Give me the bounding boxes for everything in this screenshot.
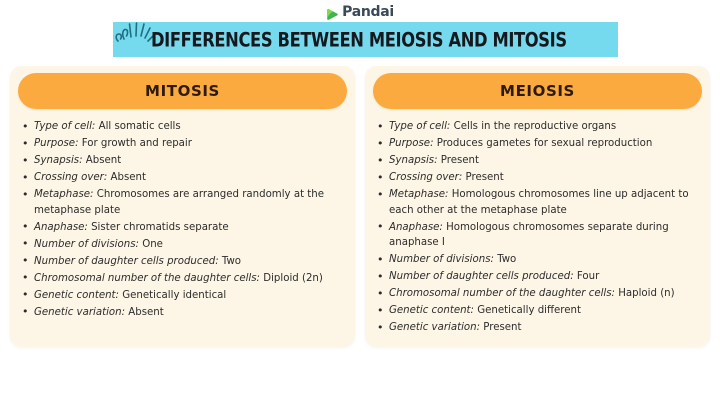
list-item-label: Number of daughter cells produced: xyxy=(34,256,222,267)
list-item: Metaphase: Homologous chromosomes line u… xyxy=(387,187,700,218)
list-item-label: Metaphase: xyxy=(389,189,452,200)
list-item: Purpose: Produces gametes for sexual rep… xyxy=(387,136,700,152)
card-meiosis: MEIOSIS Type of cell: Cells in the repro… xyxy=(365,66,710,347)
list-item: Anaphase: Homologous chromosomes separat… xyxy=(387,220,700,251)
list-item-value: Present xyxy=(441,155,479,166)
list-item-value: Present xyxy=(483,322,521,333)
list-item-value: Absent xyxy=(111,172,146,183)
list-item: Purpose: For growth and repair xyxy=(32,136,345,152)
list-item-value: Present xyxy=(466,172,504,183)
list-item-value: Absent xyxy=(86,155,121,166)
list-item: Synapsis: Absent xyxy=(32,153,345,169)
list-item-label: Type of cell: xyxy=(34,121,99,132)
list-item: Type of cell: Cells in the reproductive … xyxy=(387,119,700,135)
list-item: Type of cell: All somatic cells xyxy=(32,119,345,135)
list-item: Chromosomal number of the daughter cells… xyxy=(387,286,700,302)
list-item-label: Crossing over: xyxy=(34,172,111,183)
card-title-meiosis: MEIOSIS xyxy=(500,82,575,100)
list-item: Genetic variation: Present xyxy=(387,320,700,336)
brand-logo-bar: Pandai xyxy=(0,0,720,22)
list-item: Chromosomal number of the daughter cells… xyxy=(32,271,345,287)
page-title: DIFFERENCES BETWEEN MEIOSIS AND MITOSIS xyxy=(151,28,567,51)
list-item-label: Genetic content: xyxy=(389,305,477,316)
title-banner: DIFFERENCES BETWEEN MEIOSIS AND MITOSIS xyxy=(113,22,618,57)
brand-logo: Pandai xyxy=(326,5,394,19)
list-item-label: Number of divisions: xyxy=(34,239,142,250)
list-item: Number of daughter cells produced: Four xyxy=(387,269,700,285)
list-item-value: Diploid (2n) xyxy=(263,273,323,284)
list-item-value: Genetically different xyxy=(477,305,581,316)
list-item: Anaphase: Sister chromatids separate xyxy=(32,220,345,236)
list-item: Genetic variation: Absent xyxy=(32,305,345,321)
list-item: Genetic content: Genetically identical xyxy=(32,288,345,304)
list-item-label: Purpose: xyxy=(389,138,437,149)
list-item: Number of divisions: One xyxy=(32,237,345,253)
card-header-meiosis: MEIOSIS xyxy=(373,73,702,109)
card-header-mitosis: MITOSIS xyxy=(18,73,347,109)
list-item-value: Two xyxy=(497,254,516,265)
list-item-value: Absent xyxy=(128,307,163,318)
card-mitosis: MITOSIS Type of cell: All somatic cellsP… xyxy=(10,66,355,347)
list-item-value: Genetically identical xyxy=(122,290,226,301)
list-item: Crossing over: Present xyxy=(387,170,700,186)
list-item: Crossing over: Absent xyxy=(32,170,345,186)
card-title-mitosis: MITOSIS xyxy=(145,82,220,100)
list-item-label: Chromosomal number of the daughter cells… xyxy=(389,288,618,299)
list-item-label: Anaphase: xyxy=(34,222,91,233)
list-item: Synapsis: Present xyxy=(387,153,700,169)
list-item-label: Anaphase: xyxy=(389,222,446,233)
brand-name: Pandai xyxy=(342,5,394,19)
list-item-label: Genetic content: xyxy=(34,290,122,301)
list-item: Number of daughter cells produced: Two xyxy=(32,254,345,270)
list-item-value: Cells in the reproductive organs xyxy=(454,121,617,132)
list-item-label: Number of daughter cells produced: xyxy=(389,271,577,282)
list-item-value: Haploid (n) xyxy=(618,288,674,299)
list-item-label: Genetic variation: xyxy=(389,322,483,333)
list-item-label: Crossing over: xyxy=(389,172,466,183)
list-item-label: Type of cell: xyxy=(389,121,454,132)
comparison-cards: MITOSIS Type of cell: All somatic cellsP… xyxy=(0,66,720,347)
list-item-value: One xyxy=(142,239,163,250)
list-item-label: Metaphase: xyxy=(34,189,97,200)
sparkle-burst-icon xyxy=(111,19,155,53)
list-item-label: Purpose: xyxy=(34,138,82,149)
list-item-label: Synapsis: xyxy=(34,155,86,166)
list-item-label: Genetic variation: xyxy=(34,307,128,318)
list-meiosis: Type of cell: Cells in the reproductive … xyxy=(365,115,710,336)
list-item-value: Four xyxy=(577,271,599,282)
list-item-value: Sister chromatids separate xyxy=(91,222,229,233)
list-mitosis: Type of cell: All somatic cellsPurpose: … xyxy=(10,115,355,320)
pandai-leaf-icon xyxy=(326,6,339,19)
list-item-value: For growth and repair xyxy=(82,138,192,149)
list-item: Number of divisions: Two xyxy=(387,252,700,268)
list-item-value: All somatic cells xyxy=(99,121,181,132)
list-item: Genetic content: Genetically different xyxy=(387,303,700,319)
list-item: Metaphase: Chromosomes are arranged rand… xyxy=(32,187,345,218)
list-item-label: Synapsis: xyxy=(389,155,441,166)
list-item-label: Number of divisions: xyxy=(389,254,497,265)
list-item-value: Produces gametes for sexual reproduction xyxy=(437,138,653,149)
list-item-label: Chromosomal number of the daughter cells… xyxy=(34,273,263,284)
list-item-value: Two xyxy=(222,256,241,267)
